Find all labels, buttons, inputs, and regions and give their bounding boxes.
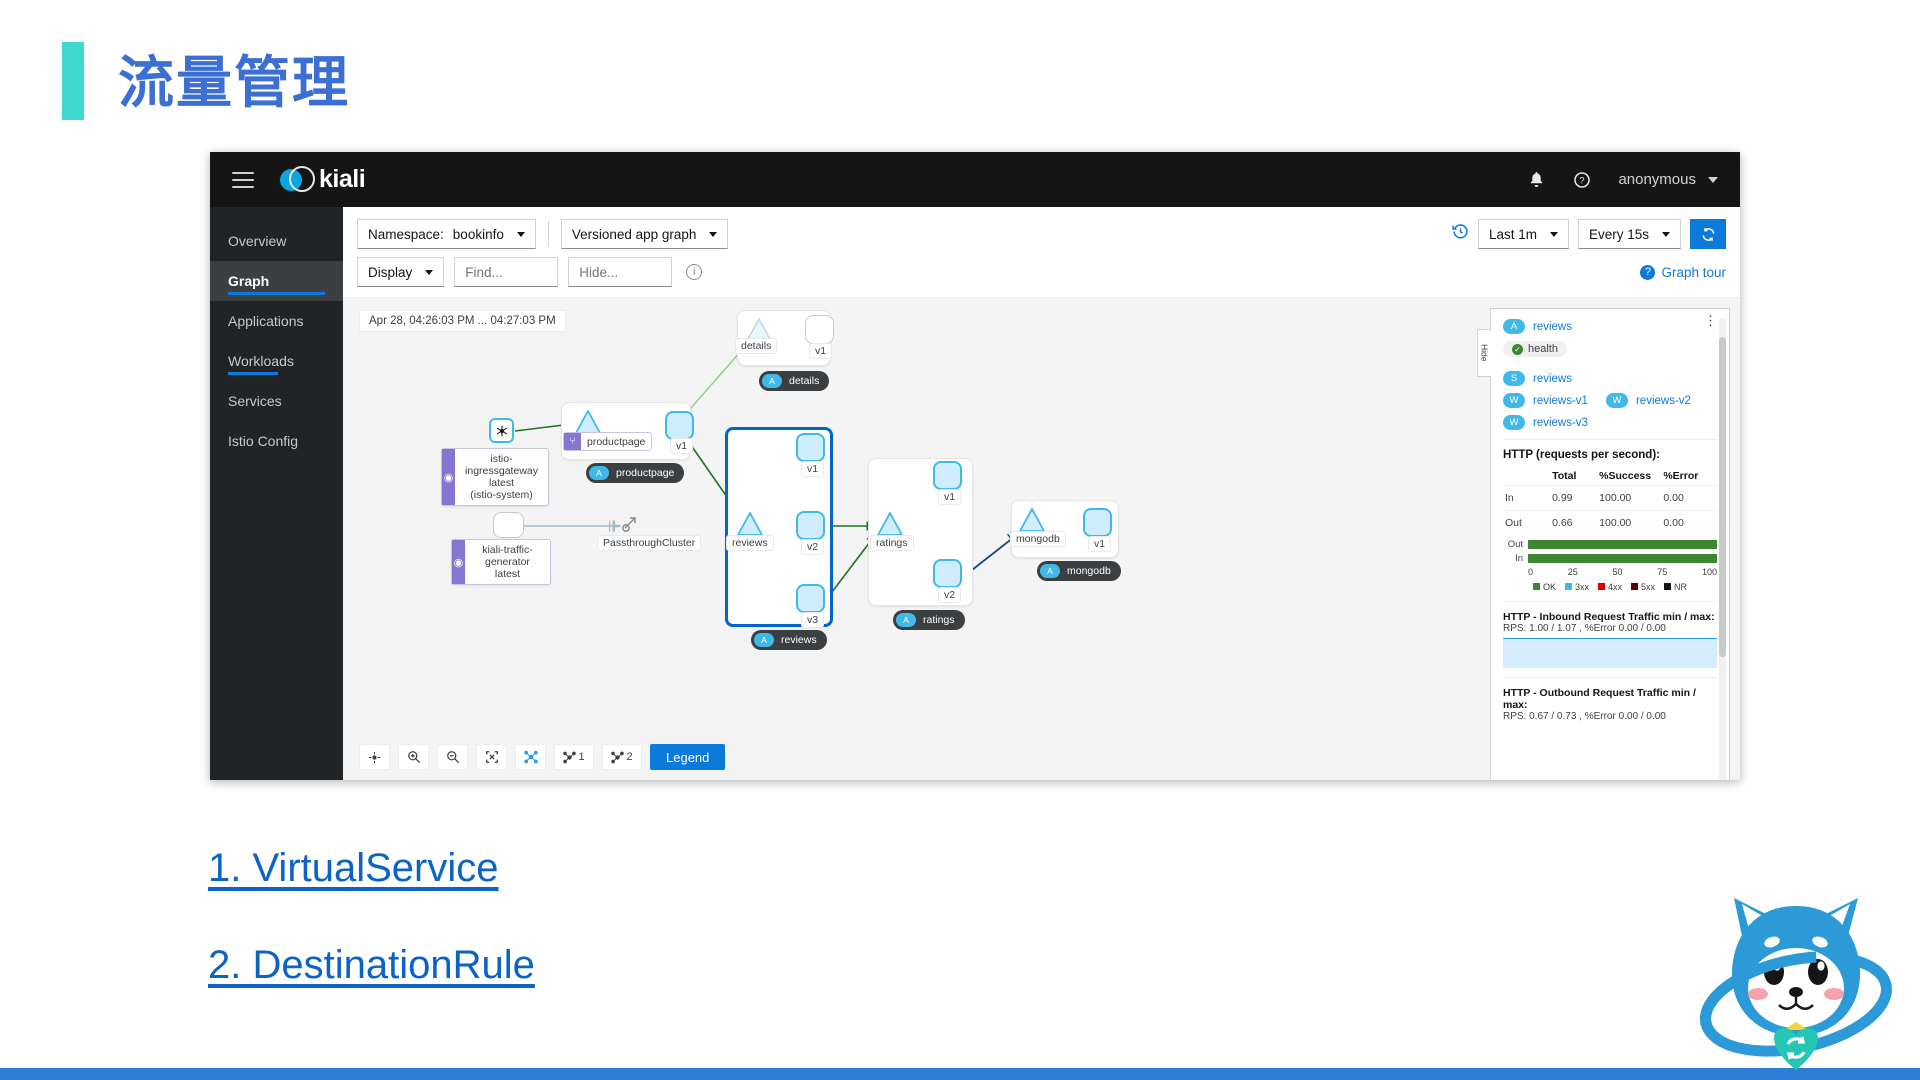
- app-badge-letter: A: [589, 466, 609, 480]
- chevron-down-icon: [1550, 232, 1558, 237]
- passthrough-cluster-label: PassthroughCluster: [597, 535, 701, 551]
- virtualservice-icon: ⑂: [564, 433, 581, 450]
- traffic-generator-line2: latest: [475, 568, 540, 580]
- legend-ok-label: OK: [1543, 582, 1556, 592]
- reviews-node-label: reviews: [726, 535, 774, 551]
- xtick-0: 0: [1528, 567, 1533, 577]
- scrollbar-thumb[interactable]: [1719, 337, 1726, 657]
- workload-badge-letter: W: [1503, 393, 1525, 408]
- title-accent-bar: [62, 42, 84, 120]
- legend-button[interactable]: Legend: [650, 744, 725, 770]
- xtick-25: 25: [1568, 567, 1578, 577]
- kiali-traffic-generator-node[interactable]: [493, 512, 524, 538]
- zoom-out-button[interactable]: [437, 744, 468, 770]
- reviews-version-v1-label: v1: [801, 461, 824, 477]
- legend-nr: NR: [1664, 582, 1687, 592]
- reset-view-button[interactable]: [359, 744, 390, 770]
- chevron-down-icon: [1708, 177, 1718, 183]
- chart-x-axis: 0 25 50 75 100: [1528, 567, 1717, 577]
- side-panel-service-name[interactable]: reviews: [1533, 373, 1572, 385]
- kebab-menu-icon[interactable]: ⋮: [1704, 319, 1717, 323]
- sidebar-item-workloads[interactable]: Workloads: [210, 341, 343, 381]
- app-badge-letter: A: [1040, 564, 1060, 578]
- reviews-service-triangle[interactable]: [737, 512, 763, 536]
- namespace-select[interactable]: Namespace: bookinfo: [357, 219, 536, 249]
- ratings-version-v1-node[interactable]: [933, 461, 962, 490]
- reviews-version-v3-node[interactable]: [796, 584, 825, 613]
- passthrough-cluster-icon[interactable]: [621, 514, 641, 534]
- traffic-distribution-chart: Out In 0 25 50: [1503, 539, 1717, 592]
- table-header-row: Total %Success %Error: [1503, 467, 1717, 486]
- link-destinationrule[interactable]: 2. DestinationRule: [208, 943, 535, 988]
- layout-2-button[interactable]: 2: [602, 744, 642, 770]
- row-out-success: 100.00: [1597, 511, 1661, 536]
- ratings-node-label: ratings: [870, 535, 914, 551]
- side-panel-service-row: S reviews: [1503, 371, 1717, 386]
- layout-1-button[interactable]: 1: [554, 744, 594, 770]
- divider: [1503, 601, 1717, 602]
- reviews-version-v2-node[interactable]: [796, 511, 825, 540]
- productpage-version-v1-node[interactable]: [665, 411, 694, 440]
- details-node-label: details: [735, 338, 777, 354]
- graph-side-panel: Hide ⋮ A reviews ✓ health: [1490, 308, 1730, 780]
- outbound-traffic-stats: RPS: 0.67 / 0.73 , %Error 0.00 / 0.00: [1503, 711, 1717, 722]
- bell-icon[interactable]: [1526, 170, 1546, 190]
- workload-badge-letter: W: [1503, 415, 1525, 430]
- th-total: Total: [1550, 467, 1597, 486]
- slide-root: 流量管理 kiali ? anonymous: [0, 0, 1920, 1080]
- fit-to-screen-button[interactable]: [476, 744, 507, 770]
- ingressgateway-line3: (istio-system): [465, 489, 538, 501]
- chevron-down-icon: [709, 232, 717, 237]
- details-app-badge: A details: [759, 371, 829, 391]
- gateway-icon: ◉: [452, 540, 465, 584]
- help-circle-icon: ?: [1640, 265, 1655, 280]
- side-panel-scrollbar[interactable]: [1719, 319, 1726, 780]
- hide-input[interactable]: [568, 257, 672, 287]
- app-badge-letter: A: [754, 633, 774, 647]
- zoom-in-button[interactable]: [398, 744, 429, 770]
- service-badge-letter: S: [1503, 371, 1525, 386]
- display-label: Display: [368, 265, 412, 280]
- info-icon[interactable]: i: [686, 264, 702, 280]
- details-service-triangle[interactable]: [747, 318, 771, 340]
- sidebar-item-applications[interactable]: Applications: [210, 301, 343, 341]
- side-panel-workload-row-2: W reviews-v3: [1503, 415, 1717, 430]
- legend-5xx-label: 5xx: [1641, 582, 1655, 592]
- details-version-v1-node[interactable]: [805, 315, 834, 344]
- kiali-logo: kiali: [280, 165, 365, 195]
- namespace-value: bookinfo: [453, 227, 504, 242]
- side-panel-workload-reviews-v3[interactable]: reviews-v3: [1533, 417, 1588, 429]
- productpage-node-label: productpage: [581, 435, 651, 449]
- graph-tour-label: Graph tour: [1661, 265, 1726, 280]
- time-range-value: Last 1m: [1489, 227, 1537, 242]
- chart-category-out: Out: [1503, 539, 1523, 550]
- table-row: In 0.99 100.00 0.00: [1503, 486, 1717, 511]
- help-circle-icon[interactable]: ?: [1572, 170, 1592, 190]
- productpage-service-triangle[interactable]: [575, 410, 601, 434]
- side-panel-health-row: ✓ health: [1503, 341, 1717, 357]
- legend-ok: OK: [1533, 582, 1556, 592]
- xtick-100: 100: [1702, 567, 1717, 577]
- refresh-button[interactable]: [1690, 219, 1726, 249]
- side-panel-hide-toggle[interactable]: Hide: [1477, 329, 1491, 377]
- bottom-accent-bar: [0, 1068, 1920, 1080]
- side-panel-app-name[interactable]: reviews: [1533, 321, 1572, 333]
- kiali-brand-text: kiali: [319, 165, 365, 194]
- outbound-traffic-title: HTTP - Outbound Request Traffic min / ma…: [1503, 687, 1717, 711]
- user-name: anonymous: [1618, 171, 1696, 188]
- chart-bar-out: Out: [1503, 539, 1717, 550]
- chart-legend: OK 3xx 4xx 5xx NR: [1503, 582, 1717, 592]
- productpage-virtualservice-badge: ⑂ productpage: [563, 432, 652, 451]
- graph-toolbar-secondary: Display i ? Graph tour: [343, 253, 1740, 297]
- row-in-success: 100.00: [1597, 486, 1661, 511]
- chevron-down-icon: [425, 270, 433, 275]
- sidebar-item-services[interactable]: Services: [210, 381, 343, 421]
- http-metrics-table: Total %Success %Error In 0.99 100.00 0.0…: [1503, 467, 1717, 535]
- mongodb-app-name: mongodb: [1067, 565, 1111, 577]
- istio-ingressgateway-node[interactable]: [489, 418, 514, 443]
- history-icon[interactable]: [1452, 223, 1469, 245]
- toolbar-divider: [548, 221, 549, 247]
- mongodb-node-label: mongodb: [1010, 531, 1066, 547]
- details-version-v1-label: v1: [809, 343, 832, 359]
- sidebar-item-graph[interactable]: Graph: [210, 261, 343, 301]
- inbound-traffic-stats: RPS: 1.00 / 1.07 , %Error 0.00 / 0.00: [1503, 623, 1717, 634]
- istio-ingressgateway-card[interactable]: ◉ istio-ingressgateway latest (istio-sys…: [441, 448, 549, 506]
- health-label: health: [1528, 343, 1558, 355]
- health-status-badge: ✓ health: [1503, 341, 1567, 357]
- ingressgateway-line2: latest: [465, 477, 538, 489]
- ratings-version-v2-node[interactable]: [933, 559, 962, 588]
- mongodb-app-badge: A mongodb: [1037, 561, 1121, 581]
- link-virtualservice[interactable]: 1. VirtualService: [208, 846, 499, 891]
- inbound-traffic-title: HTTP - Inbound Request Traffic min / max…: [1503, 611, 1717, 623]
- side-panel-app-row: A reviews: [1503, 319, 1717, 334]
- chevron-down-icon: [517, 232, 525, 237]
- side-panel-hide-label: Hide: [1480, 344, 1490, 361]
- chart-bar-in-ok: [1528, 554, 1717, 563]
- check-icon: ✓: [1512, 344, 1523, 355]
- reviews-app-name: reviews: [781, 634, 817, 646]
- th-dir: [1503, 467, 1550, 486]
- chart-bar-out-ok: [1528, 540, 1717, 549]
- cloudwego-mascot-logo: [1696, 884, 1896, 1074]
- user-menu[interactable]: anonymous: [1618, 171, 1718, 188]
- workload-badge-letter: W: [1606, 393, 1628, 408]
- find-input[interactable]: [454, 257, 558, 287]
- mongodb-service-triangle[interactable]: [1019, 508, 1045, 532]
- table-row: Out 0.66 100.00 0.00: [1503, 511, 1717, 536]
- legend-3xx-label: 3xx: [1575, 582, 1589, 592]
- legend-3xx: 3xx: [1565, 582, 1589, 592]
- xtick-50: 50: [1612, 567, 1622, 577]
- productpage-app-name: productpage: [616, 467, 674, 479]
- graph-type-value: Versioned app graph: [572, 227, 697, 242]
- sidebar-nav: Overview Graph Applications Workloads Se…: [210, 207, 343, 780]
- kiali-app-window: kiali ? anonymous Overview Graph A: [210, 152, 1740, 780]
- kiali-traffic-generator-card[interactable]: ◉ kiali-traffic-generator latest: [451, 539, 551, 585]
- xtick-75: 75: [1657, 567, 1667, 577]
- chart-category-in: In: [1503, 553, 1523, 564]
- reviews-app-badge: A reviews: [751, 630, 827, 650]
- mongodb-version-v1-node[interactable]: [1083, 508, 1112, 537]
- side-panel-workload-reviews-v1[interactable]: reviews-v1: [1533, 395, 1588, 407]
- ratings-app-badge: A ratings: [893, 610, 965, 630]
- legend-nr-label: NR: [1674, 582, 1687, 592]
- legend-5xx: 5xx: [1631, 582, 1655, 592]
- details-app-name: details: [789, 375, 819, 387]
- divider: [1503, 677, 1717, 678]
- ratings-service-triangle[interactable]: [877, 512, 903, 536]
- traffic-generator-line1: kiali-traffic-generator: [475, 544, 540, 568]
- http-section-title: HTTP (requests per second):: [1503, 449, 1717, 461]
- app-badge-letter: A: [1503, 319, 1525, 334]
- ingressgateway-line1: istio-ingressgateway: [465, 453, 538, 477]
- legend-4xx: 4xx: [1598, 582, 1622, 592]
- sidebar-item-overview[interactable]: Overview: [210, 221, 343, 261]
- time-range-select[interactable]: Last 1m: [1478, 219, 1569, 249]
- ratings-version-v2-label: v2: [938, 587, 961, 603]
- row-in-error: 0.00: [1661, 486, 1717, 511]
- graph-type-select[interactable]: Versioned app graph: [561, 219, 729, 249]
- chevron-down-icon: [1662, 232, 1670, 237]
- mongodb-version-v1-label: v1: [1088, 536, 1111, 552]
- side-panel-workload-reviews-v2[interactable]: reviews-v2: [1636, 395, 1691, 407]
- layout-2-label: 2: [626, 751, 632, 763]
- row-out-dir: Out: [1503, 511, 1550, 536]
- kiali-logo-icon: [280, 165, 310, 195]
- inbound-sparkline: [1503, 638, 1717, 668]
- reviews-version-v1-node[interactable]: [796, 433, 825, 462]
- app-badge-letter: A: [896, 613, 916, 627]
- ratings-app-name: ratings: [923, 614, 955, 626]
- side-panel-workload-row-1: W reviews-v1 W reviews-v2: [1503, 393, 1717, 408]
- row-out-total: 0.66: [1550, 511, 1597, 536]
- sidebar-item-istio-config[interactable]: Istio Config: [210, 421, 343, 461]
- reviews-version-v2-label: v2: [801, 539, 824, 555]
- row-in-dir: In: [1503, 486, 1550, 511]
- graph-canvas[interactable]: Apr 28, 04:26:03 PM ... 04:27:03 PM: [343, 297, 1740, 780]
- chart-bar-in: In: [1503, 553, 1717, 564]
- svg-text:?: ?: [1580, 175, 1585, 185]
- layout-1-label: 1: [578, 751, 584, 763]
- productpage-app-badge: A productpage: [586, 463, 684, 483]
- productpage-version-v1-label: v1: [670, 438, 693, 454]
- graph-toolbar-primary: Namespace: bookinfo Versioned app graph: [343, 207, 1740, 253]
- row-out-error: 0.00: [1661, 511, 1717, 536]
- display-menu-button[interactable]: Display: [357, 257, 444, 287]
- refresh-interval-select[interactable]: Every 15s: [1578, 219, 1681, 249]
- app-badge-letter: A: [762, 374, 782, 388]
- layout-default-button[interactable]: [515, 744, 546, 770]
- gateway-icon: ◉: [442, 449, 455, 505]
- reviews-version-v3-label: v3: [801, 612, 824, 628]
- legend-4xx-label: 4xx: [1608, 582, 1622, 592]
- ratings-version-v1-label: v1: [938, 489, 961, 505]
- th-error: %Error: [1661, 467, 1717, 486]
- hamburger-icon[interactable]: [232, 172, 254, 188]
- refresh-interval-value: Every 15s: [1589, 227, 1649, 242]
- graph-bottom-toolbar: 1 2 Legend: [359, 744, 725, 770]
- graph-tour-link[interactable]: ? Graph tour: [1640, 265, 1726, 280]
- divider: [1503, 439, 1717, 440]
- page-title: 流量管理: [118, 48, 350, 118]
- th-success: %Success: [1597, 467, 1661, 486]
- row-in-total: 0.99: [1550, 486, 1597, 511]
- namespace-label: Namespace:: [368, 227, 444, 242]
- masthead: kiali ? anonymous: [210, 152, 1740, 207]
